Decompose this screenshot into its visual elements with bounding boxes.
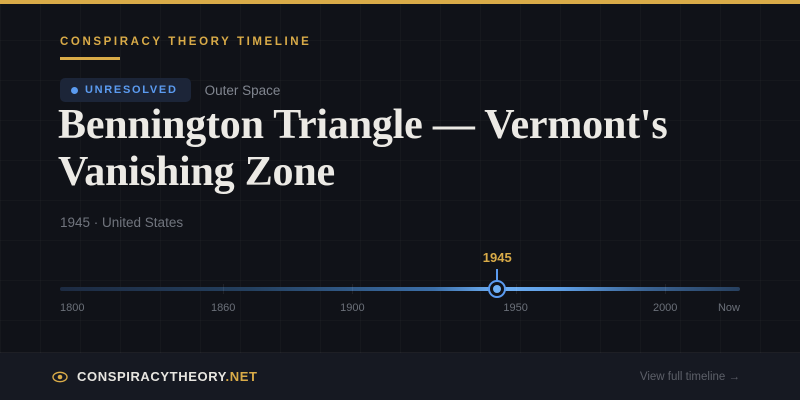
- conspiracy-timeline-card: CONSPIRACY THEORY TIMELINE UNRESOLVED Ou…: [0, 0, 800, 400]
- eyebrow-block: CONSPIRACY THEORY TIMELINE: [60, 36, 311, 60]
- brand-name: CONSPIRACYTHEORY.NET: [77, 369, 258, 384]
- timeline-tick-mark: [223, 284, 224, 294]
- page-title: Bennington Triangle — Vermont's Vanishin…: [58, 102, 718, 196]
- view-full-timeline-link[interactable]: View full timeline →: [640, 371, 740, 383]
- eyebrow-underline: [60, 57, 120, 60]
- timeline-tick-label: 1800: [60, 302, 84, 314]
- eyebrow-label: CONSPIRACY THEORY TIMELINE: [60, 36, 311, 48]
- eye-icon: [52, 369, 68, 385]
- footer-bar: CONSPIRACYTHEORY.NET View full timeline …: [0, 353, 800, 400]
- badge-row: UNRESOLVED Outer Space: [60, 78, 280, 102]
- timeline-tick-label: Now: [718, 302, 740, 314]
- timeline-tick-label: 2000: [653, 302, 677, 314]
- meta-line: 1945 · United States: [60, 215, 183, 230]
- timeline-tick-label: 1860: [211, 302, 235, 314]
- category-label: Outer Space: [205, 83, 281, 98]
- footer-brand[interactable]: CONSPIRACYTHEORY.NET: [52, 369, 258, 385]
- timeline-marker-label: 1945: [483, 250, 512, 265]
- status-dot-icon: [71, 87, 78, 94]
- brand-name-text: CONSPIRACYTHEORY: [77, 369, 226, 384]
- brand-tld: .NET: [226, 369, 258, 384]
- timeline-track[interactable]: [60, 287, 740, 291]
- timeline-tick-label: 1950: [503, 302, 527, 314]
- timeline-tick-mark: [665, 284, 666, 294]
- timeline-tick-label: 1900: [340, 302, 364, 314]
- top-accent-bar: [0, 0, 800, 4]
- timeline-tick-mark: [516, 284, 517, 294]
- status-badge-label: UNRESOLVED: [85, 84, 178, 96]
- timeline-widget[interactable]: 18001860190019502000Now 1945: [60, 250, 740, 320]
- status-badge[interactable]: UNRESOLVED: [60, 78, 191, 102]
- timeline-tick-mark: [352, 284, 353, 294]
